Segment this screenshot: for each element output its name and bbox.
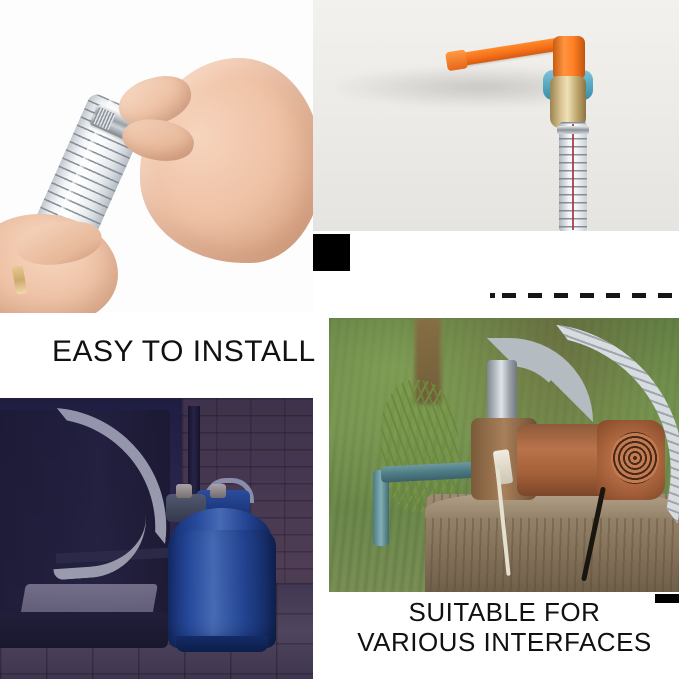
infographic-canvas: EASY TO INSTALL (0, 0, 679, 679)
grill-base-graphic (0, 612, 168, 648)
panel-easy-to-install-photo (0, 0, 313, 313)
caption-easy-to-install: EASY TO INSTALL (52, 335, 316, 370)
black-square-accent (313, 234, 350, 271)
hose-red-stripe-graphic (572, 124, 574, 230)
dashed-rule-lead-dot (490, 293, 495, 298)
wall-shadow-graphic (331, 66, 579, 108)
cylinder-valve-knob-graphic (210, 484, 226, 498)
caption-suitable-for-various-interfaces: SUITABLE FOR VARIOUS INTERFACES (330, 597, 679, 657)
orange-valve-cap-graphic (553, 36, 585, 78)
panel-water-pump-photo (329, 318, 679, 592)
panel-wall-valve-photo (313, 0, 679, 231)
cylinder-base-ring-graphic (176, 636, 268, 652)
panel-gas-cylinder-photo (0, 398, 313, 679)
foreground-weed-graphic (381, 380, 459, 512)
regulator-knob-graphic (176, 484, 192, 498)
mid-dashed-rule (502, 293, 679, 298)
blue-gas-cylinder-graphic (168, 530, 276, 648)
hose-clamp-graphic (557, 126, 589, 134)
brass-valve-body-graphic (550, 76, 586, 128)
